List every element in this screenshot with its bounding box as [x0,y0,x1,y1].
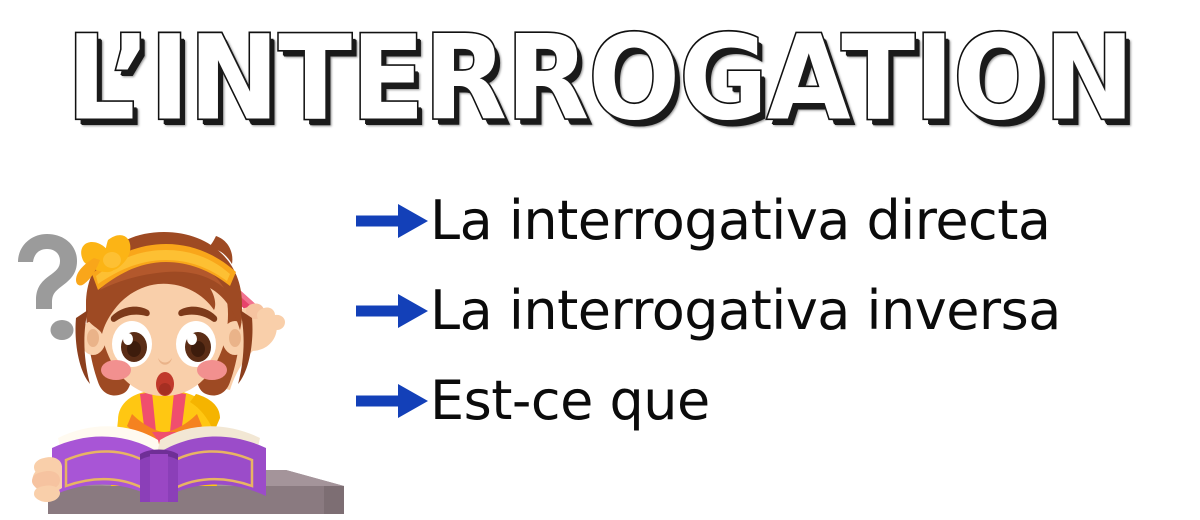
girl-reading-illustration [0,218,372,520]
list-item: La interrogativa inversa [356,266,1136,356]
bullet-list: La interrogativa directa La interrogativ… [356,176,1136,446]
list-item-label: Est-ce que [430,374,710,428]
girl-reading-svg [0,218,372,520]
mouth-inner [159,383,171,395]
title-block: L’INTERROGATION [0,8,1200,148]
list-item: Est-ce que [356,356,1136,446]
cheek-right [197,360,227,380]
list-item-label: La interrogativa directa [430,194,1051,248]
ear-inner-right [229,329,241,347]
list-item-label: La interrogativa inversa [430,284,1061,338]
cheek-left [101,360,131,380]
page-title: L’INTERROGATION [66,20,1133,136]
ear-inner-left [87,329,99,347]
left-hand [32,457,62,502]
list-item: La interrogativa directa [356,176,1136,266]
question-mark-icon [18,234,77,340]
